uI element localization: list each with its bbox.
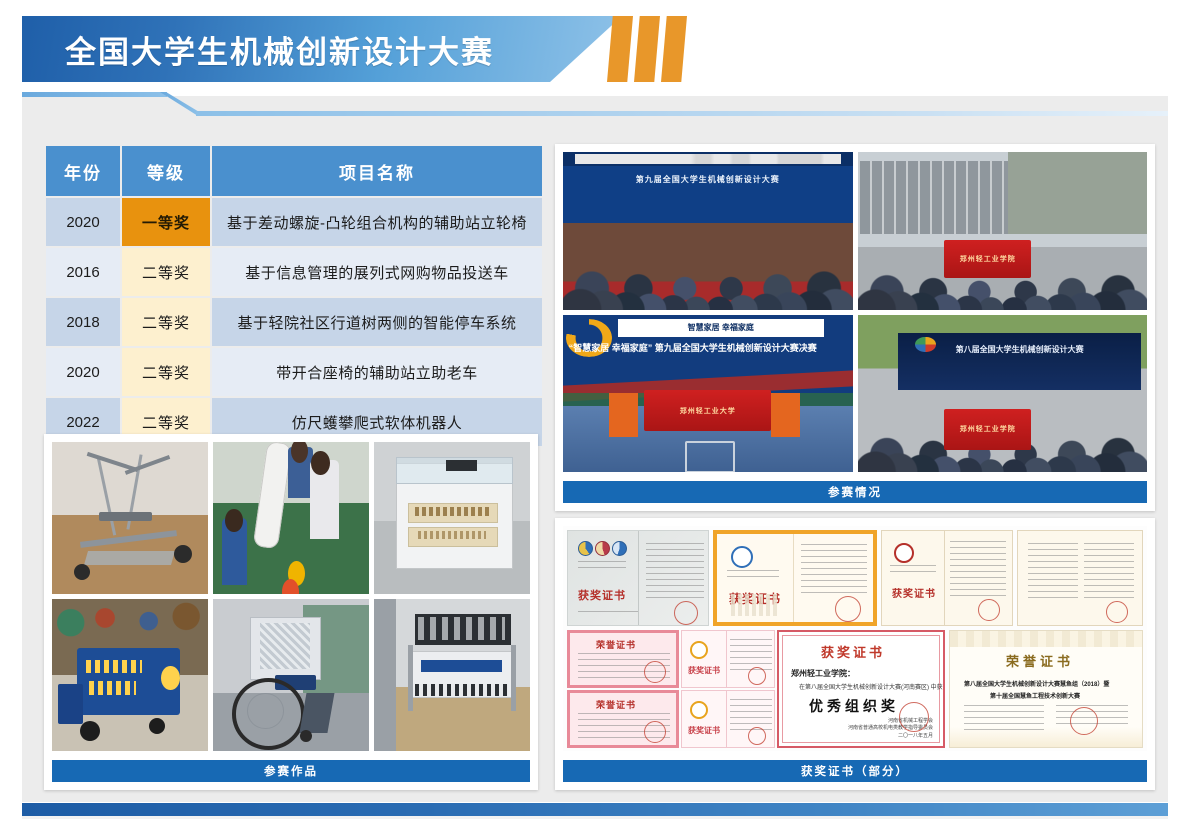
certificate-title: 荣誉证书 xyxy=(596,698,636,711)
certificate-title: 获奖证书 xyxy=(821,642,885,661)
certificate-item-featured: 获奖证书 郑州轻工业学院： 在第八届全国大学生机械创新设计大赛(河南赛区) 中获… xyxy=(777,630,945,748)
header-rule-left xyxy=(22,92,167,97)
group-photo-banner-text: “智慧家居 幸福家庭” 第九届全国大学生机械创新设计大赛决赛 xyxy=(569,341,817,354)
works-panel: 参赛作品 xyxy=(44,434,538,790)
certificate-item: 荣誉证书 xyxy=(567,630,679,688)
poster-page: 全国大学生机械创新设计大赛 年份 等级 项目名称 2020 一 xyxy=(0,0,1185,830)
certificate-line-1: 第八届全国大学生机械创新设计大赛慧鱼组（2018）暨 xyxy=(964,679,1109,688)
cell-level: 二等奖 xyxy=(122,348,210,396)
certificate-line-2: 第十届全国慧鱼工程技术创新大赛 xyxy=(990,691,1080,700)
certificate-item: 获奖证书 xyxy=(681,630,775,688)
group-photo-9th-competition: 第九届全国大学生机械创新设计大赛 xyxy=(563,152,853,310)
certificate-title: 获奖证书 xyxy=(688,725,720,736)
certificate-title: 获奖证书 xyxy=(688,665,720,676)
group-photo-final-stage: 智慧家居 幸福家庭 “智慧家居 幸福家庭” 第九届全国大学生机械创新设计大赛决赛… xyxy=(563,315,853,473)
cell-year: 2016 xyxy=(46,248,120,296)
table-row: 2016 二等奖 基于信息管理的展列式网购物品投送车 xyxy=(46,248,542,296)
table-header-row: 年份 等级 项目名称 xyxy=(46,146,542,196)
table-row: 2020 二等奖 带开合座椅的辅助站立助老车 xyxy=(46,348,542,396)
works-photo-students-testing xyxy=(213,442,369,594)
group-photo-campus-stairs: 郑州轻工业学院 xyxy=(858,152,1148,310)
certificate-body: 在第八届全国大学生机械创新设计大赛(河南赛区) 中获 xyxy=(799,682,943,691)
certificates-panel: 获奖证书 获奖证书 获奖证书 xyxy=(555,518,1155,790)
cell-level: 一等奖 xyxy=(122,198,210,246)
groups-caption: 参赛情况 xyxy=(563,481,1147,503)
group-photo-banner-text: 第九届全国大学生机械创新设计大赛 xyxy=(636,174,780,185)
footer-bar xyxy=(22,803,1168,816)
header-rule-right xyxy=(196,111,1168,116)
group-photo-8th-competition: 第八届全国大学生机械创新设计大赛 郑州轻工业学院 xyxy=(858,315,1148,473)
awards-table: 年份 等级 项目名称 2020 一等奖 基于差动螺旋-凸轮组合机构的辅助站立轮椅… xyxy=(44,144,544,448)
table-row: 2020 一等奖 基于差动螺旋-凸轮组合机构的辅助站立轮椅 xyxy=(46,198,542,246)
works-photo-grid xyxy=(52,442,530,751)
header-stripe-3-icon xyxy=(661,16,687,82)
certificate-school: 郑州轻工业学院： xyxy=(791,668,855,679)
works-photo-standing-wheelchair xyxy=(213,599,369,751)
cell-project-name: 基于轻院社区行道树两侧的智能停车系统 xyxy=(212,298,542,346)
certificate-item: 获奖证书 xyxy=(681,690,775,748)
group-photo-banner-text: 第八届全国大学生机械创新设计大赛 xyxy=(956,344,1084,355)
column-header-level: 等级 xyxy=(122,146,210,196)
works-photo-wheelchair-prototype xyxy=(52,442,208,594)
cell-year: 2020 xyxy=(46,198,120,246)
header-stripe-2-icon xyxy=(634,16,660,82)
footer-shadow xyxy=(22,816,1168,819)
group-photo-flag-text: 郑州轻工业学院 xyxy=(944,409,1031,450)
group-photo-flag-text: 郑州轻工业学院 xyxy=(944,240,1031,278)
works-photo-express-truck xyxy=(52,599,208,751)
certificate-item: 荣誉证书 第八届全国大学生机械创新设计大赛慧鱼组（2018）暨 第十届全国慧鱼工… xyxy=(949,630,1143,748)
certificate-item: 荣誉证书 xyxy=(567,690,679,748)
groups-panel: 第九届全国大学生机械创新设计大赛 郑州轻工业学院 xyxy=(555,144,1155,511)
works-caption: 参赛作品 xyxy=(52,760,530,782)
cell-project-name: 基于信息管理的展列式网购物品投送车 xyxy=(212,248,542,296)
cell-level: 二等奖 xyxy=(122,248,210,296)
certificate-title: 荣誉证书 xyxy=(596,638,636,651)
certificate-item: 获奖证书 xyxy=(713,530,877,626)
certificate-title: 荣誉证书 xyxy=(1006,651,1074,670)
header-banner: 全国大学生机械创新设计大赛 xyxy=(22,16,622,82)
cell-project-name: 基于差动螺旋-凸轮组合机构的辅助站立轮椅 xyxy=(212,198,542,246)
column-header-year: 年份 xyxy=(46,146,120,196)
page-title: 全国大学生机械创新设计大赛 xyxy=(65,27,494,72)
works-photo-parking-system-model xyxy=(374,599,530,751)
awards-table-wrapper: 年份 等级 项目名称 2020 一等奖 基于差动螺旋-凸轮组合机构的辅助站立轮椅… xyxy=(44,144,538,448)
column-header-name: 项目名称 xyxy=(212,146,542,196)
certificate-award: 优秀组织奖 xyxy=(809,696,899,716)
certificates-collage: 获奖证书 获奖证书 获奖证书 xyxy=(563,526,1147,751)
cell-year: 2018 xyxy=(46,298,120,346)
page-header: 全国大学生机械创新设计大赛 xyxy=(0,0,1185,95)
cell-project-name: 带开合座椅的辅助站立助老车 xyxy=(212,348,542,396)
group-photo-flag-text: 郑州轻工业大学 xyxy=(644,390,771,431)
cell-year: 2020 xyxy=(46,348,120,396)
certificate-title: 获奖证书 xyxy=(578,587,626,603)
certificate-item: 获奖证书 xyxy=(567,530,709,626)
certificate-title: 获奖证书 xyxy=(892,585,936,600)
cell-level: 二等奖 xyxy=(122,298,210,346)
certificates-caption: 获奖证书（部分） xyxy=(563,760,1147,782)
table-row: 2018 二等奖 基于轻院社区行道树两侧的智能停车系统 xyxy=(46,298,542,346)
works-photo-delivery-cabinet xyxy=(374,442,530,594)
groups-photo-grid: 第九届全国大学生机械创新设计大赛 郑州轻工业学院 xyxy=(563,152,1147,472)
certificate-item xyxy=(1017,530,1143,626)
certificate-item: 获奖证书 xyxy=(881,530,1013,626)
